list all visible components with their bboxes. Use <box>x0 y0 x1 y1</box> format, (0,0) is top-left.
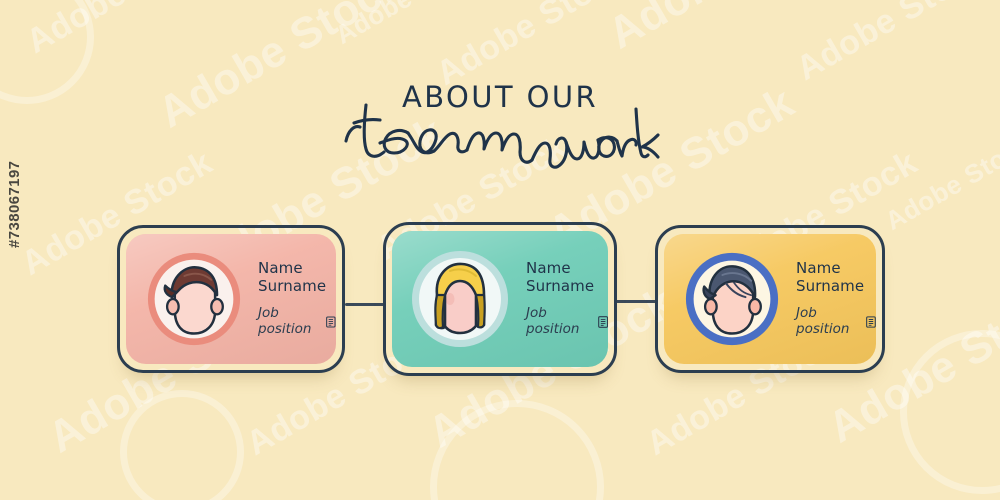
avatar-member-3 <box>684 251 780 347</box>
title-script-teamwork: team work <box>340 95 670 175</box>
member-1-surname: Surname <box>258 278 336 296</box>
watermark-text: Adobe Stock <box>790 0 994 89</box>
watermark-text: Adobe Stock <box>880 128 1000 237</box>
member-3-info: Name Surname Job position <box>796 260 876 337</box>
member-3-job-row: Job position <box>796 306 876 338</box>
member-2-job-row: Job position <box>526 306 608 338</box>
member-3-surname: Surname <box>796 278 876 296</box>
watermark-image-id-label: #738067197 <box>6 161 23 248</box>
connector-card2-card3 <box>615 300 657 303</box>
connector-card1-card2 <box>345 303 385 306</box>
team-member-card-1[interactable]: Name Surname Job position <box>117 225 345 373</box>
member-1-name: Name <box>258 260 336 278</box>
watermark-ring <box>120 390 244 500</box>
infographic-canvas: Adobe StockAdobe StockAdobe StockAdobe S… <box>0 0 1000 500</box>
member-2-surname: Surname <box>526 278 608 296</box>
document-icon <box>866 315 876 329</box>
avatar-member-1 <box>146 251 242 347</box>
member-1-job-label: Job position <box>258 306 321 338</box>
member-3-name: Name <box>796 260 876 278</box>
member-2-name: Name <box>526 260 608 278</box>
avatar-member-2 <box>410 249 510 349</box>
watermark-text: Adobe Stock <box>20 0 224 62</box>
member-1-info: Name Surname Job position <box>258 260 336 337</box>
watermark-ring <box>900 330 1000 494</box>
title-line-about-our: ABOUT OUR <box>0 80 1000 114</box>
document-icon <box>326 315 336 329</box>
watermark-text: Adobe Stock <box>150 0 413 138</box>
watermark-ring <box>0 0 94 104</box>
page-title: ABOUT OUR team work <box>0 0 1000 190</box>
member-1-job-row: Job position <box>258 306 336 338</box>
member-3-job-label: Job position <box>796 306 861 338</box>
team-member-card-3[interactable]: Name Surname Job position <box>655 225 885 373</box>
watermark-text: Adobe Stock <box>600 0 863 59</box>
watermark-image-id: #738067197 <box>6 161 23 248</box>
watermark-text: Adobe Stock <box>430 0 634 94</box>
team-member-card-2[interactable]: Name Surname Job position <box>383 222 617 376</box>
title-script-teamwork-text: team work <box>340 95 341 96</box>
member-2-info: Name Surname Job position <box>526 260 608 337</box>
member-2-job-label: Job position <box>526 306 593 338</box>
document-icon <box>598 315 608 329</box>
watermark-text: Adobe Stock <box>330 0 488 51</box>
watermark-ring <box>430 400 604 500</box>
